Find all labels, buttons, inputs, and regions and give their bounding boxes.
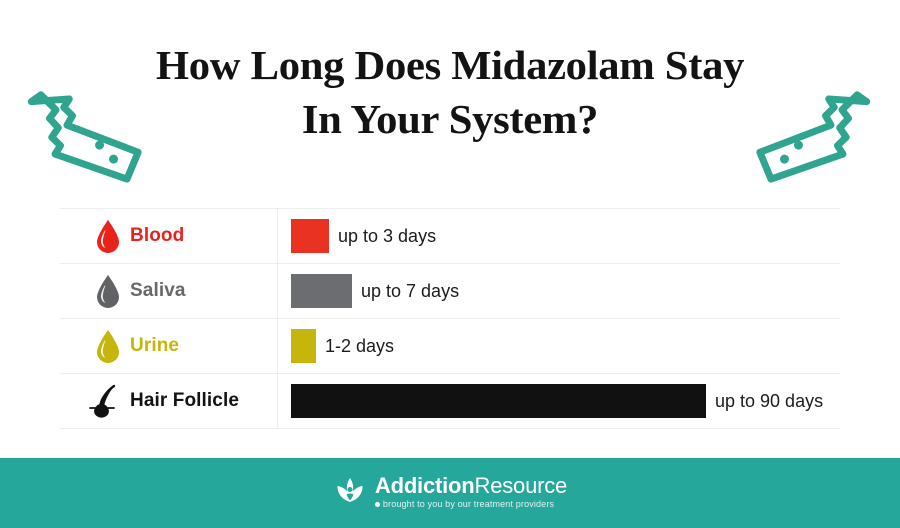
duration-bar — [291, 329, 316, 363]
title-line-1: How Long Does Midazolam Stay — [0, 38, 900, 92]
duration-bar — [291, 274, 352, 308]
brand-part-2: Resource — [475, 473, 568, 498]
duration-bar — [291, 384, 706, 418]
lotus-logo-icon — [333, 475, 367, 510]
row-label-text: Urine — [130, 335, 179, 357]
row-bar-cell: 1-2 days — [278, 319, 840, 373]
brand-text-block: AddictionResource brought to you by our … — [375, 474, 567, 510]
duration-label: up to 7 days — [352, 281, 459, 302]
footer-bar: AddictionResource brought to you by our … — [0, 458, 900, 528]
brand-tagline-text: brought to you by our treatment provider… — [383, 498, 554, 510]
bullet-dot-icon — [375, 502, 380, 507]
saliva-drop-icon — [86, 274, 130, 308]
urine-drop-icon — [86, 329, 130, 363]
substance-duration-table: Blood up to 3 days Saliva up to 7 — [60, 208, 840, 429]
table-row: Saliva up to 7 days — [60, 263, 840, 318]
infographic-page: How Long Does Midazolam Stay In Your Sys… — [0, 0, 900, 528]
row-bar-cell: up to 90 days — [278, 374, 840, 428]
row-label-cell: Urine — [60, 319, 278, 373]
row-label-cell: Saliva — [60, 264, 278, 318]
row-label-text: Hair Follicle — [130, 390, 239, 412]
table-row: Hair Follicle up to 90 days — [60, 373, 840, 429]
duration-label: up to 90 days — [706, 391, 823, 412]
brand-wordmark: AddictionResource — [375, 474, 567, 497]
table-row: Blood up to 3 days — [60, 208, 840, 263]
brand-logo[interactable]: AddictionResource brought to you by our … — [333, 474, 567, 510]
brand-part-1: Addiction — [375, 473, 475, 498]
blood-drop-icon — [86, 219, 130, 253]
row-label-cell: Blood — [60, 209, 278, 263]
brand-tagline: brought to you by our treatment provider… — [375, 498, 554, 510]
ampoule-icon-left — [26, 86, 146, 196]
row-label-text: Saliva — [130, 280, 186, 302]
row-label-text: Blood — [130, 225, 184, 247]
row-bar-cell: up to 3 days — [278, 209, 840, 263]
duration-bar — [291, 219, 329, 253]
row-label-cell: Hair Follicle — [60, 374, 278, 428]
duration-label: 1-2 days — [316, 336, 394, 357]
duration-label: up to 3 days — [329, 226, 436, 247]
row-bar-cell: up to 7 days — [278, 264, 840, 318]
hair-follicle-icon — [86, 384, 130, 418]
table-row: Urine 1-2 days — [60, 318, 840, 373]
ampoule-icon-right — [752, 86, 872, 196]
